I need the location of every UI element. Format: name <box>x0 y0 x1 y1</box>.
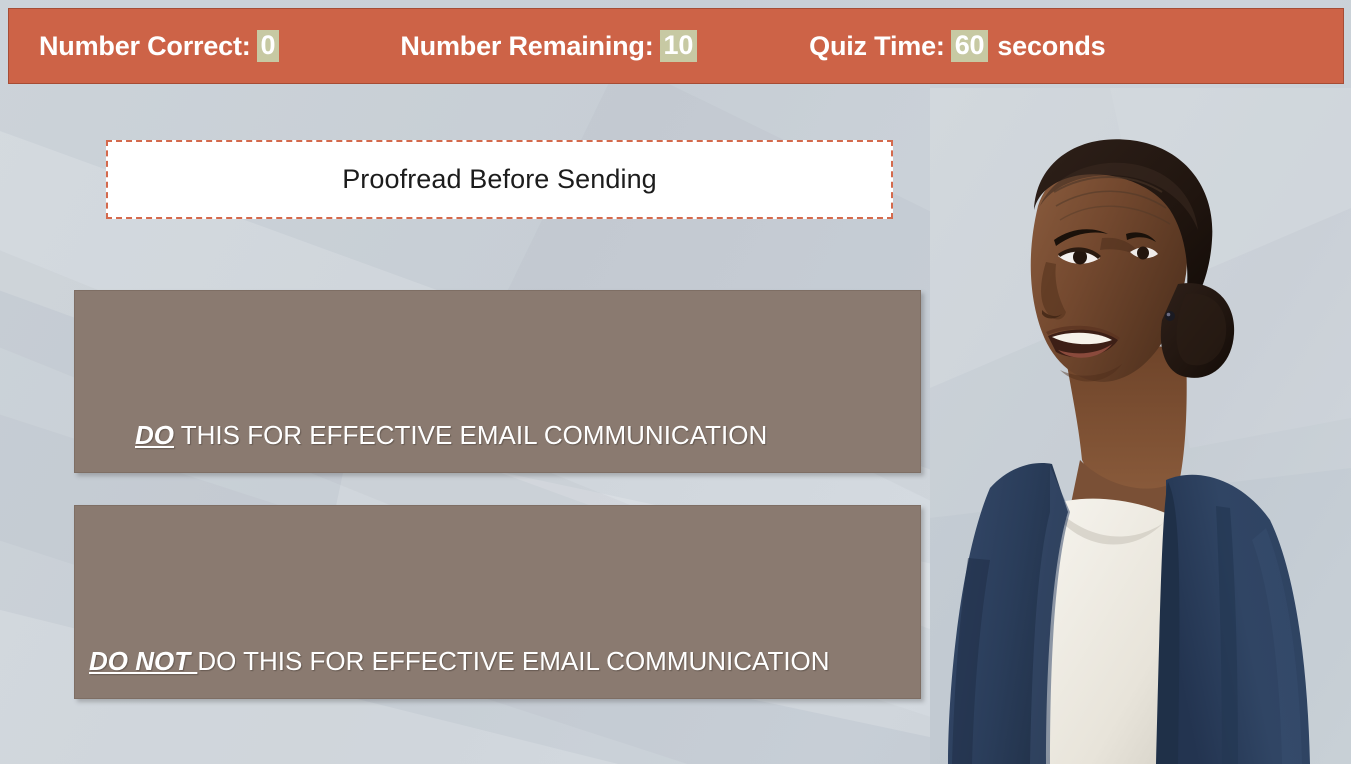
draggable-answer-item[interactable]: Proofread Before Sending <box>106 140 893 219</box>
quiz-slide: Number Correct: 0 Number Remaining: 10 Q… <box>0 0 1351 764</box>
number-remaining-label: Number Remaining: <box>400 31 653 62</box>
status-number-correct: Number Correct: 0 <box>39 30 281 62</box>
status-number-remaining: Number Remaining: 10 <box>400 30 699 62</box>
presenter-photo <box>930 88 1351 764</box>
quiz-status-bar: Number Correct: 0 Number Remaining: 10 Q… <box>8 8 1344 84</box>
drop-zone-do-rest: THIS FOR EFFECTIVE EMAIL COMMUNICATION <box>174 420 767 450</box>
drop-zone-do-label: DO THIS FOR EFFECTIVE EMAIL COMMUNICATIO… <box>75 421 767 472</box>
drop-zone-do-emphasis: DO <box>135 420 174 450</box>
number-correct-label: Number Correct: <box>39 31 251 62</box>
quiz-time-value: 60 <box>951 30 989 62</box>
draggable-answer-label: Proofread Before Sending <box>342 164 657 195</box>
number-remaining-value: 10 <box>660 30 698 62</box>
number-correct-value: 0 <box>257 30 280 62</box>
quiz-time-label: Quiz Time: <box>809 31 945 62</box>
drop-zone-do-not-label: DO NOT DO THIS FOR EFFECTIVE EMAIL COMMU… <box>75 647 830 698</box>
quiz-time-unit: seconds <box>997 31 1105 62</box>
drop-zone-do-not[interactable]: DO NOT DO THIS FOR EFFECTIVE EMAIL COMMU… <box>74 505 921 699</box>
status-quiz-time: Quiz Time: 60 seconds <box>809 30 1105 62</box>
drop-zone-do-not-emphasis: DO NOT <box>89 646 197 676</box>
drop-zone-do[interactable]: DO THIS FOR EFFECTIVE EMAIL COMMUNICATIO… <box>74 290 921 473</box>
drop-zone-do-not-rest: DO THIS FOR EFFECTIVE EMAIL COMMUNICATIO… <box>197 646 829 676</box>
